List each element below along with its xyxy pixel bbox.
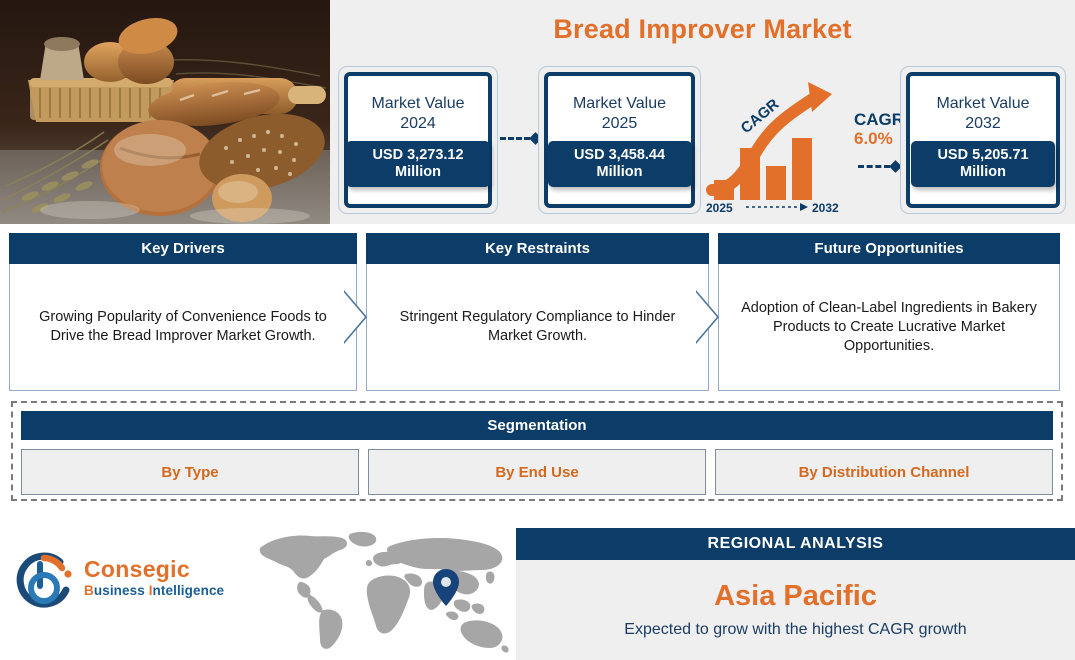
segmentation-item-by-distribution-channel[interactable]: By Distribution Channel bbox=[715, 449, 1053, 495]
logo-tagline-usiness: usiness bbox=[94, 583, 149, 598]
infographic-page: Bread Improver Market Market Value 2024 … bbox=[0, 0, 1075, 660]
regional-analysis-title: REGIONAL ANALYSIS bbox=[516, 528, 1075, 560]
cagr-end-year: 2032 bbox=[812, 201, 839, 212]
dashed-line bbox=[858, 165, 890, 168]
world-map-icon bbox=[250, 526, 515, 654]
cagr-growth-chart-icon: CAGR 2025 2032 bbox=[704, 72, 864, 212]
card-value-amount: USD 3,273.12 bbox=[372, 147, 463, 163]
company-logo[interactable]: Consegic Business Intelligence bbox=[14, 548, 244, 620]
logo-tagline-b: B bbox=[84, 583, 94, 598]
cagr-text-block: CAGR 6.0% bbox=[854, 110, 904, 149]
card-value-unit: Million bbox=[395, 164, 441, 180]
top-band: Bread Improver Market Market Value 2024 … bbox=[0, 0, 1075, 224]
panel-title: Key Drivers bbox=[9, 233, 357, 264]
card-label-year: 2024 bbox=[400, 115, 436, 132]
card-value-unit: Million bbox=[597, 164, 643, 180]
card-value-pill: USD 3,273.12 Million bbox=[346, 141, 490, 187]
segmentation-item-by-type[interactable]: By Type bbox=[21, 449, 359, 495]
panel-title: Key Restraints bbox=[366, 233, 709, 264]
card-value-unit: Million bbox=[960, 164, 1006, 180]
card-inner: Market Value 2025 USD 3,458.44 Million bbox=[544, 72, 695, 208]
card-label-line1: Market Value bbox=[371, 95, 464, 112]
card-value-amount: USD 5,205.71 bbox=[937, 147, 1028, 163]
chevron-right-icon-1 bbox=[342, 289, 368, 345]
logo-wordmark: Consegic Business Intelligence bbox=[84, 556, 224, 599]
regional-analysis-panel: REGIONAL ANALYSIS Asia Pacific Expected … bbox=[516, 528, 1075, 660]
top-right-area: Bread Improver Market Market Value 2024 … bbox=[330, 0, 1075, 224]
region-name: Asia Pacific bbox=[714, 579, 877, 613]
consegic-logo-mark-icon bbox=[14, 548, 78, 612]
logo-company-name: Consegic bbox=[84, 556, 224, 582]
bottom-band: Consegic Business Intelligence bbox=[0, 510, 1075, 660]
panel-body: Growing Popularity of Convenience Foods … bbox=[9, 264, 357, 391]
segmentation-section: Segmentation By Type By End Use By Distr… bbox=[11, 401, 1063, 501]
page-title: Bread Improver Market bbox=[330, 14, 1075, 45]
card-label-year: 2032 bbox=[965, 115, 1001, 132]
segmentation-items: By Type By End Use By Distribution Chann… bbox=[21, 449, 1053, 495]
card-label: Market Value 2024 bbox=[371, 94, 464, 134]
card-value-pill: USD 5,205.71 Million bbox=[911, 141, 1055, 187]
segmentation-title: Segmentation bbox=[21, 411, 1053, 440]
insight-panels-row: Key Drivers Growing Popularity of Conven… bbox=[0, 224, 1075, 392]
market-value-card-2032: Market Value 2032 USD 5,205.71 Million bbox=[900, 66, 1066, 214]
panel-text: Stringent Regulatory Compliance to Hinde… bbox=[381, 308, 694, 346]
card-inner: Market Value 2032 USD 5,205.71 Million bbox=[906, 72, 1060, 208]
world-map bbox=[250, 526, 515, 654]
card-value-pill: USD 3,458.44 Million bbox=[548, 141, 692, 187]
chevron-right-icon-2 bbox=[694, 289, 720, 345]
bread-photo bbox=[0, 0, 330, 224]
card-inner: Market Value 2024 USD 3,273.12 Million bbox=[344, 72, 492, 208]
region-note: Expected to grow with the highest CAGR g… bbox=[624, 619, 966, 641]
connector-2024-2025 bbox=[500, 132, 540, 144]
card-value-amount: USD 3,458.44 bbox=[574, 147, 665, 163]
connector-cagr-2032 bbox=[858, 160, 900, 172]
panel-key-restraints: Key Restraints Stringent Regulatory Comp… bbox=[366, 233, 709, 391]
card-label-line1: Market Value bbox=[936, 95, 1029, 112]
panel-body: Adoption of Clean-Label Ingredients in B… bbox=[718, 264, 1060, 391]
panel-title: Future Opportunities bbox=[718, 233, 1060, 264]
panel-body: Stringent Regulatory Compliance to Hinde… bbox=[366, 264, 709, 391]
panel-text: Adoption of Clean-Label Ingredients in B… bbox=[733, 299, 1045, 356]
card-label: Market Value 2032 bbox=[936, 94, 1029, 134]
cagr-label: CAGR bbox=[854, 110, 904, 129]
panel-text: Growing Popularity of Convenience Foods … bbox=[24, 308, 342, 346]
logo-tagline: Business Intelligence bbox=[84, 582, 224, 599]
market-value-card-2024: Market Value 2024 USD 3,273.12 Million bbox=[338, 66, 498, 214]
panel-key-drivers: Key Drivers Growing Popularity of Conven… bbox=[9, 233, 357, 391]
segmentation-item-by-end-use[interactable]: By End Use bbox=[368, 449, 706, 495]
cagr-start-year: 2025 bbox=[706, 201, 733, 212]
regional-analysis-body: Asia Pacific Expected to grow with the h… bbox=[516, 560, 1075, 660]
cagr-value: 6.0% bbox=[854, 129, 904, 149]
market-value-card-2025: Market Value 2025 USD 3,458.44 Million bbox=[538, 66, 701, 214]
card-label: Market Value 2025 bbox=[573, 94, 666, 134]
cagr-block: CAGR 2025 2032 CAGR 6.0% bbox=[704, 72, 864, 212]
panel-future-opportunities: Future Opportunities Adoption of Clean-L… bbox=[718, 233, 1060, 391]
card-label-line1: Market Value bbox=[573, 95, 666, 112]
dashed-line bbox=[500, 137, 530, 140]
card-label-year: 2025 bbox=[602, 115, 638, 132]
logo-tagline-ntelligence: ntelligence bbox=[153, 583, 225, 598]
